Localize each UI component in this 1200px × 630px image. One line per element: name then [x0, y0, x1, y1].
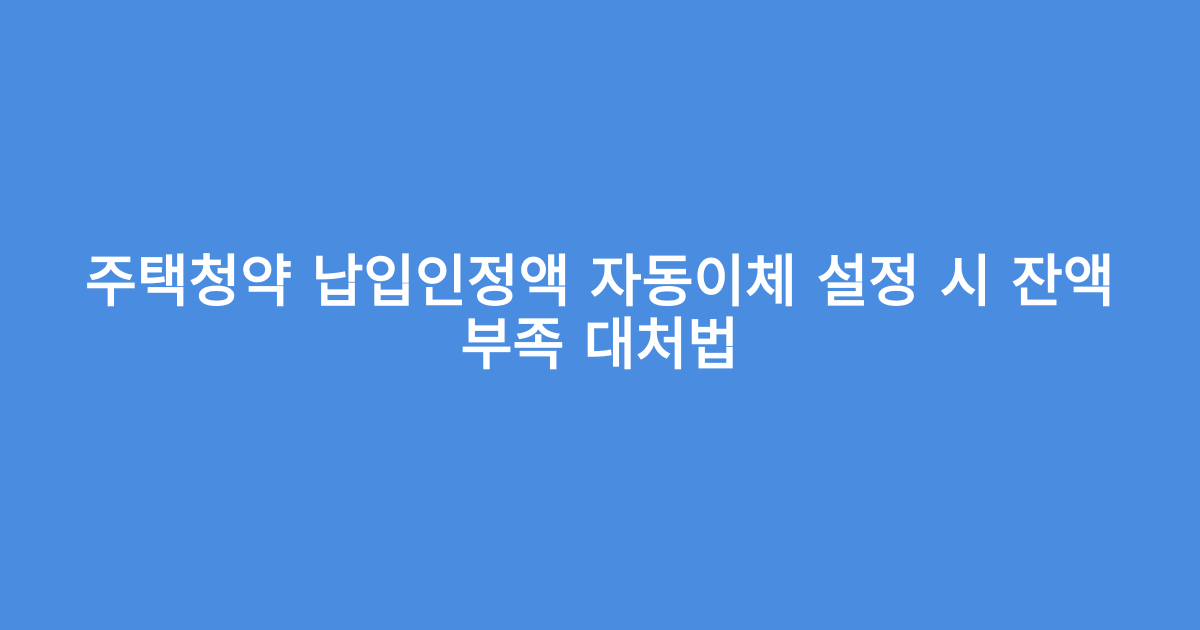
page-title: 주택청약 납입인정액 자동이체 설정 시 잔액 부족 대처법 [60, 252, 1140, 377]
title-block: 주택청약 납입인정액 자동이체 설정 시 잔액 부족 대처법 [0, 252, 1200, 377]
og-card: 주택청약 납입인정액 자동이체 설정 시 잔액 부족 대처법 [0, 0, 1200, 630]
